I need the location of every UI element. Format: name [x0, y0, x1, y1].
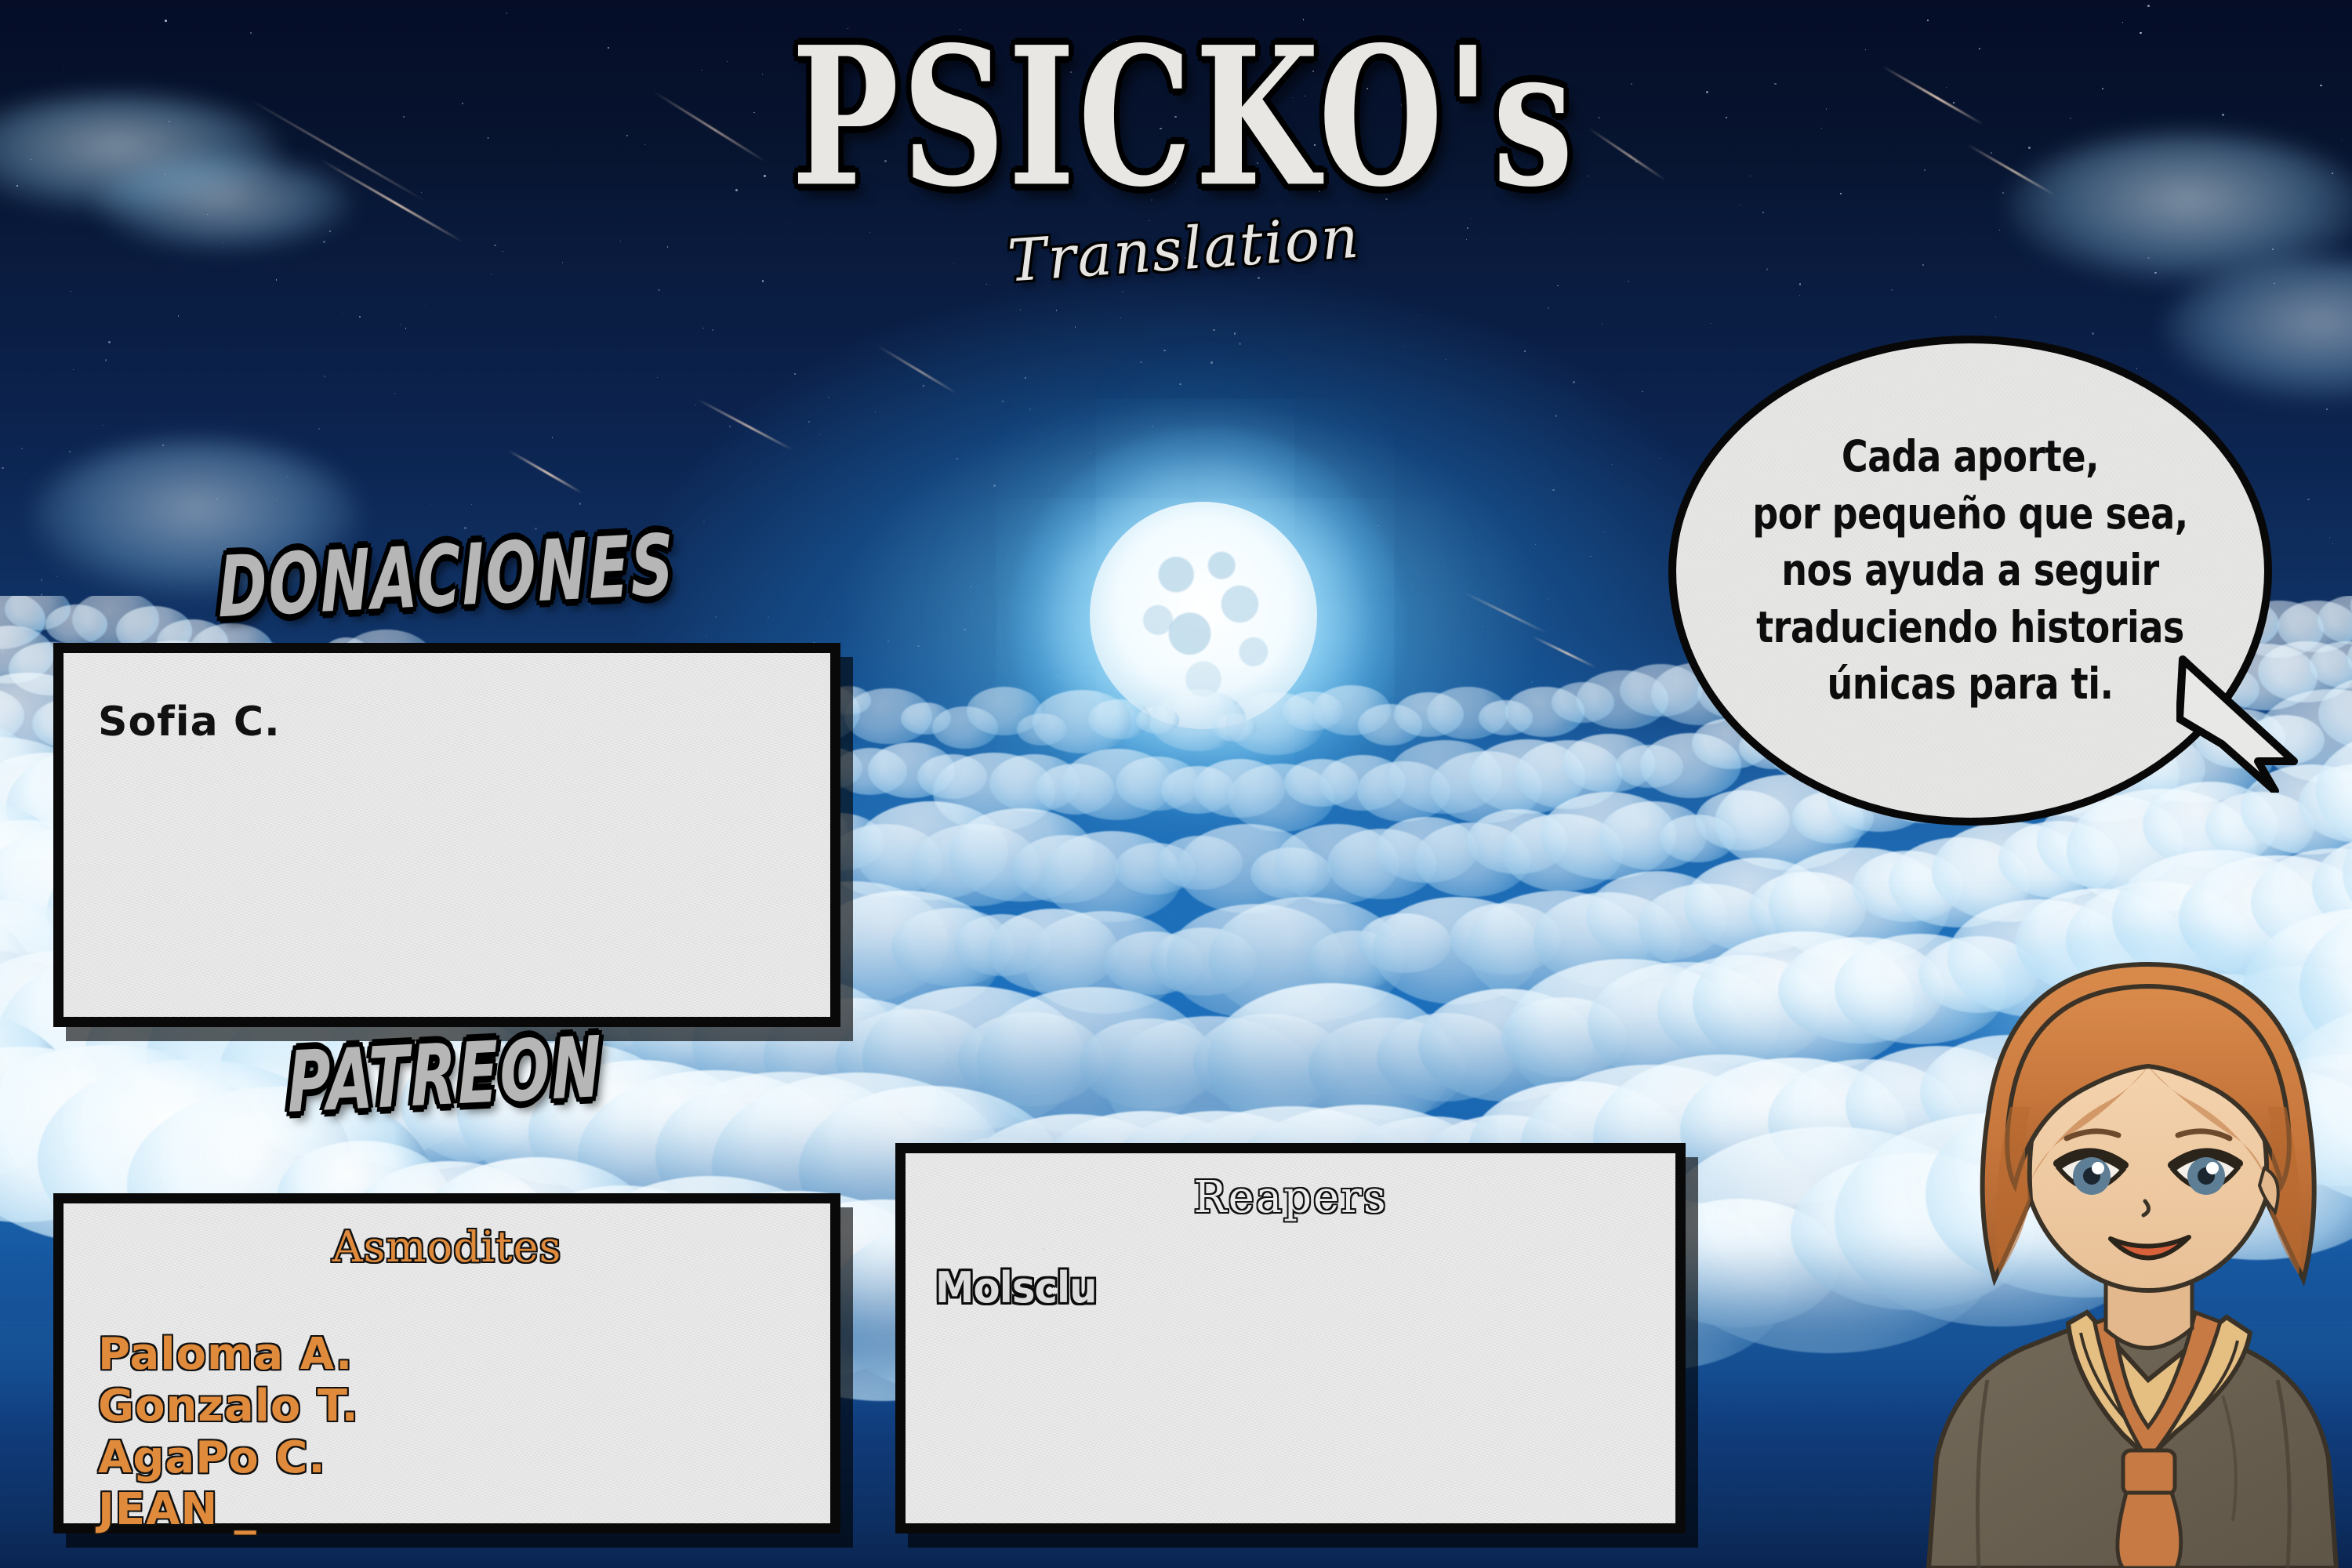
patron-name: Gonzalo T. [98, 1381, 359, 1432]
patreon-heading: PATREON [286, 1018, 604, 1132]
speech-bubble-line: traduciendo historias [1729, 599, 2212, 656]
reapers-tier-label: Reapers [906, 1172, 1675, 1223]
asmodites-tier-label: Asmodites [64, 1222, 830, 1272]
asmodites-member-list: Paloma A.Gonzalo T.AgaPo C.JEAN _ [98, 1329, 359, 1536]
donaciones-panel: Sofia C. [53, 643, 840, 1027]
reapers-member-list: Molsclu [935, 1263, 1110, 1314]
donor-name: Sofia C. [98, 699, 281, 746]
asmodites-panel: Asmodites Paloma A.Gonzalo T.AgaPo C.JEA… [53, 1193, 840, 1534]
speech-bubble-line: nos ayuda a seguir [1729, 542, 2212, 599]
patron-name: AgaPo C. [98, 1432, 359, 1484]
speech-bubble-line: únicas para ti. [1729, 655, 2212, 713]
speech-bubble-text: Cada aporte,por pequeño que sea,nos ayud… [1729, 428, 2212, 713]
patron-name: Molsclu [935, 1263, 1097, 1314]
speech-bubble-line: Cada aporte, [1729, 428, 2212, 485]
speech-bubble-line: por pequeño que sea, [1729, 485, 2212, 543]
patron-name: Paloma A. [98, 1329, 359, 1381]
character-illustration [1913, 831, 2352, 1568]
speech-bubble: Cada aporte,por pequeño que sea,nos ayud… [1668, 336, 2272, 826]
patron-name: JEAN _ [98, 1484, 359, 1536]
reapers-panel: Reapers Molsclu [895, 1143, 1686, 1534]
